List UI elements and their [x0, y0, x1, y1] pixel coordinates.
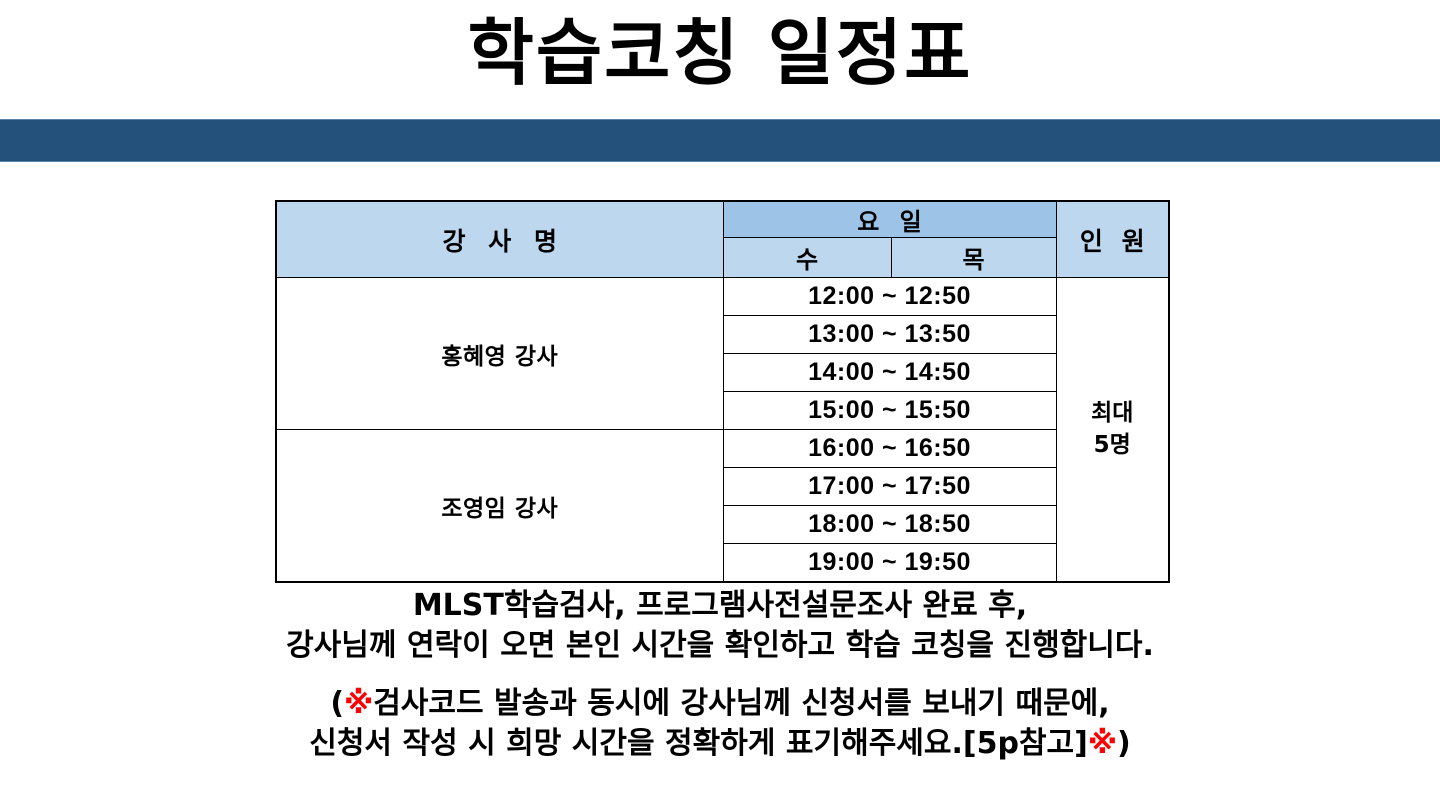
table-row: 조영임 강사 16:00 ~ 16:50	[276, 430, 1169, 468]
time-slot-cell: 15:00 ~ 15:50	[723, 392, 1056, 430]
capacity-cell: 최대 5명	[1056, 278, 1169, 583]
note-secondary-text-1: 검사코드 발송과 동시에 강사님께 신청서를 보내기 때문에,	[373, 686, 1109, 721]
header-accent-bar	[0, 119, 1440, 162]
note-primary-line-2: 강사님께 연락이 오면 본인 시간을 확인하고 학습 코칭을 진행합니다.	[0, 626, 1440, 666]
time-slot-cell: 14:00 ~ 14:50	[723, 354, 1056, 392]
instructor-name-cell: 조영임 강사	[276, 430, 723, 583]
page-title: 학습코칭 일정표	[0, 6, 1440, 101]
time-slot-cell: 18:00 ~ 18:50	[723, 506, 1056, 544]
reference-mark-icon-close: ※	[1088, 726, 1117, 761]
header-instructor-name: 강 사 명	[276, 201, 723, 278]
note-primary-line-1: MLST학습검사, 프로그램사전설문조사 완료 후,	[0, 586, 1440, 626]
time-slot-cell: 19:00 ~ 19:50	[723, 544, 1056, 583]
header-day-wednesday: 수	[723, 238, 891, 278]
schedule-table-container: 강 사 명 요 일 인 원 수 목 홍혜영 강사 12:00 ~ 12:50 최…	[275, 200, 1168, 583]
footer-notes: MLST학습검사, 프로그램사전설문조사 완료 후, 강사님께 연락이 오면 본…	[0, 586, 1440, 765]
time-slot-cell: 12:00 ~ 12:50	[723, 278, 1056, 316]
time-slot-cell: 17:00 ~ 17:50	[723, 468, 1056, 506]
instructor-name-cell: 홍혜영 강사	[276, 278, 723, 430]
note-secondary-text-2: 신청서 작성 시 희망 시간을 정확하게 표기해주세요.[5p참고]	[309, 726, 1088, 761]
table-header-row-1: 강 사 명 요 일 인 원	[276, 201, 1169, 238]
table-row: 홍혜영 강사 12:00 ~ 12:50 최대 5명	[276, 278, 1169, 316]
paren-open: (	[330, 686, 344, 721]
header-day-group: 요 일	[723, 201, 1056, 238]
schedule-table: 강 사 명 요 일 인 원 수 목 홍혜영 강사 12:00 ~ 12:50 최…	[275, 200, 1170, 583]
time-slot-cell: 16:00 ~ 16:50	[723, 430, 1056, 468]
note-secondary-line-1: (※검사코드 발송과 동시에 강사님께 신청서를 보내기 때문에,	[0, 684, 1440, 725]
time-slot-cell: 13:00 ~ 13:50	[723, 316, 1056, 354]
paren-close: )	[1117, 726, 1131, 761]
note-secondary-line-2: 신청서 작성 시 희망 시간을 정확하게 표기해주세요.[5p참고]※)	[0, 724, 1440, 765]
note-primary: MLST학습검사, 프로그램사전설문조사 완료 후, 강사님께 연락이 오면 본…	[0, 586, 1440, 666]
reference-mark-icon-open: ※	[344, 686, 373, 721]
header-capacity: 인 원	[1056, 201, 1169, 278]
note-secondary: (※검사코드 발송과 동시에 강사님께 신청서를 보내기 때문에, 신청서 작성…	[0, 684, 1440, 765]
header-day-thursday: 목	[891, 238, 1056, 278]
